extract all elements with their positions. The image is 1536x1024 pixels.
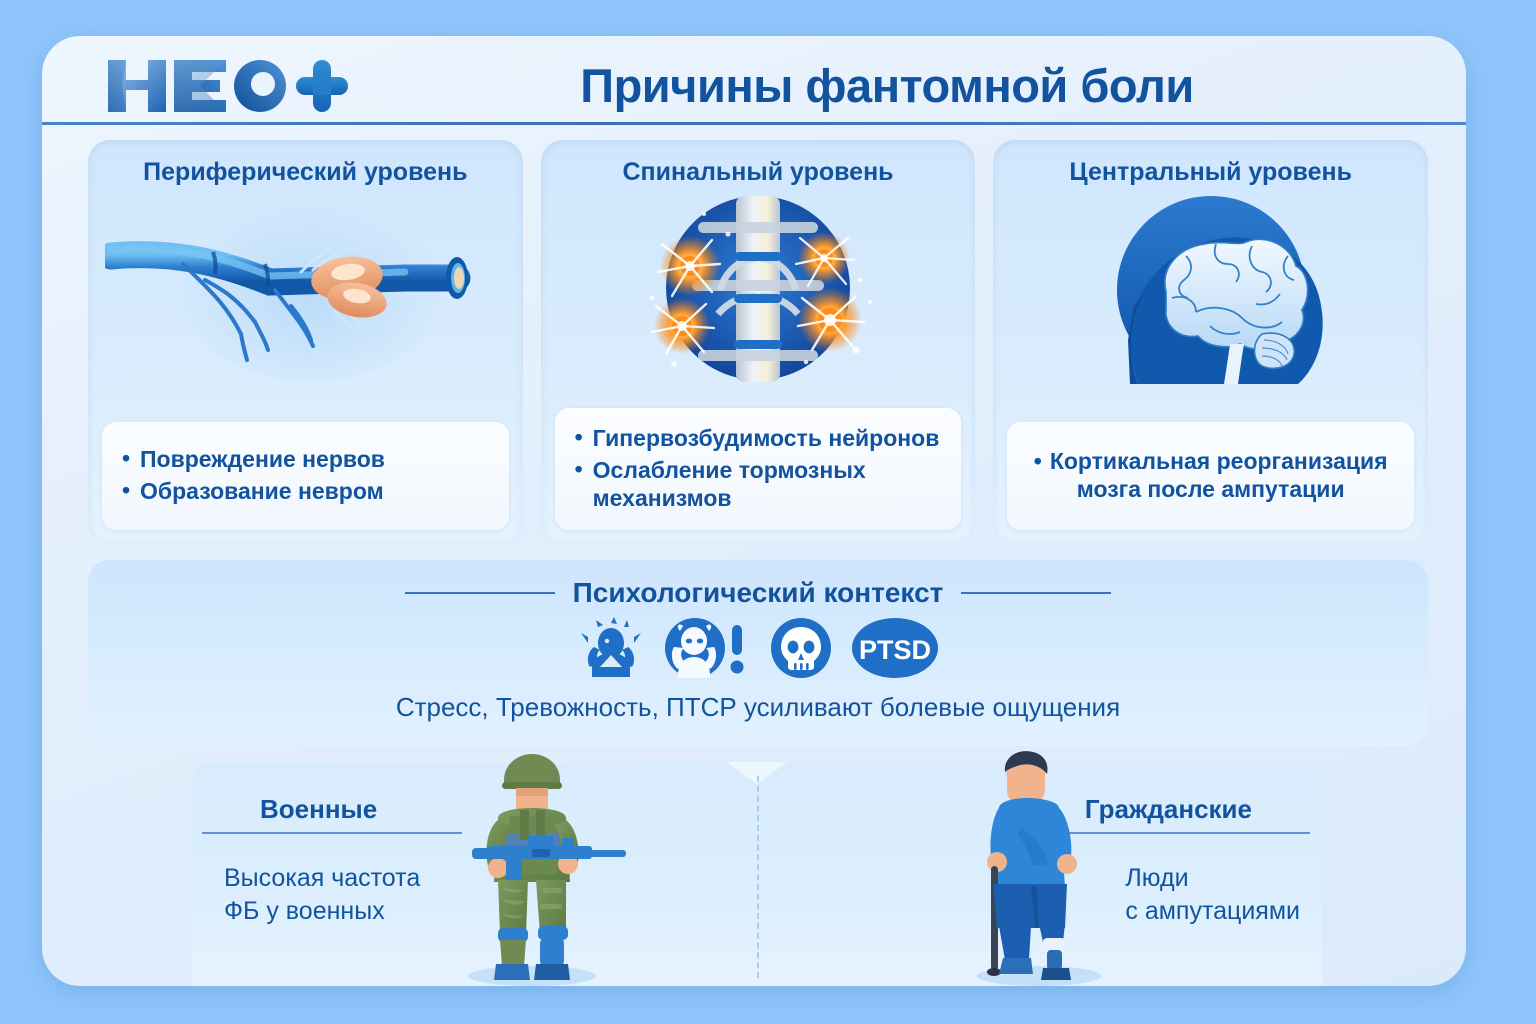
- page-title: Причины фантомной боли: [372, 54, 1402, 116]
- psychological-header: Психологический контекст: [88, 576, 1428, 610]
- card-title-central: Центральный уровень: [993, 158, 1428, 187]
- skull-icon: [770, 617, 832, 684]
- bullet-item: Гипервозбудимость нейронов: [573, 424, 952, 452]
- main-panel: Причины фантомной боли Периферический ур…: [42, 36, 1466, 986]
- level-card-spinal[interactable]: Спинальный уровень: [541, 140, 976, 544]
- bullet-item: Кортикальная реорганизация мозга после а…: [1017, 447, 1404, 503]
- ptsd-badge-icon: PTSD: [852, 617, 938, 684]
- psychological-title: Психологический контекст: [573, 577, 944, 609]
- header-divider: [42, 122, 1466, 125]
- psychological-caption: Стресс, Тревожность, ПТСР усиливают боле…: [88, 692, 1428, 723]
- neo-plus-logo: [100, 54, 350, 116]
- level-card-central[interactable]: Центральный уровень: [993, 140, 1428, 544]
- group-title-military: Военные: [260, 794, 377, 825]
- psychological-context-section: Психологический контекст: [88, 560, 1428, 746]
- group-text-civilian: Люди с ампутациями: [1125, 862, 1300, 927]
- group-text-line: ФБ у военных: [224, 895, 420, 928]
- brain-head-illustration: [993, 194, 1428, 384]
- anxiety-exclamation-icon: [664, 617, 750, 684]
- spinal-cord-neurons-illustration: [541, 194, 976, 384]
- card-title-peripheral: Периферический уровень: [88, 158, 523, 187]
- bullet-item: Повреждение нервов: [120, 445, 499, 473]
- header-rule-left: [405, 592, 555, 594]
- groups-panel: Военные Высокая частота ФБ у военных Гра…: [192, 762, 1322, 986]
- soldier-with-prosthetic-figure: [432, 748, 632, 986]
- group-rule-military: [202, 832, 462, 834]
- stress-head-icon: [578, 617, 644, 684]
- bullet-item: Ослабление тормозных механизмов: [573, 456, 952, 512]
- level-card-peripheral[interactable]: Периферический уровень: [88, 140, 523, 544]
- ptsd-label: PTSD: [859, 635, 931, 665]
- bullet-list-spinal: Гипервозбудимость нейронов Ослабление то…: [555, 408, 962, 530]
- group-text-line: с ампутациями: [1125, 895, 1300, 928]
- group-text-military: Высокая частота ФБ у военных: [224, 862, 420, 927]
- psychological-icon-row: PTSD: [88, 618, 1428, 682]
- header: Причины фантомной боли: [42, 36, 1466, 122]
- civilian-with-prosthetic-figure: [947, 746, 1127, 986]
- group-text-line: Высокая частота: [224, 862, 420, 895]
- levels-row: Периферический уровень: [88, 140, 1428, 544]
- group-text-line: Люди: [1125, 862, 1300, 895]
- infographic-canvas: Причины фантомной боли Периферический ур…: [0, 0, 1536, 1024]
- header-rule-right: [961, 592, 1111, 594]
- bullet-list-peripheral: Повреждение нервов Образование невром: [102, 422, 509, 530]
- card-title-spinal: Спинальный уровень: [541, 158, 976, 187]
- bullet-item: Образование невром: [120, 477, 499, 505]
- nerve-neuroma-illustration: [88, 194, 523, 384]
- bullet-list-central: Кортикальная реорганизация мозга после а…: [1007, 422, 1414, 530]
